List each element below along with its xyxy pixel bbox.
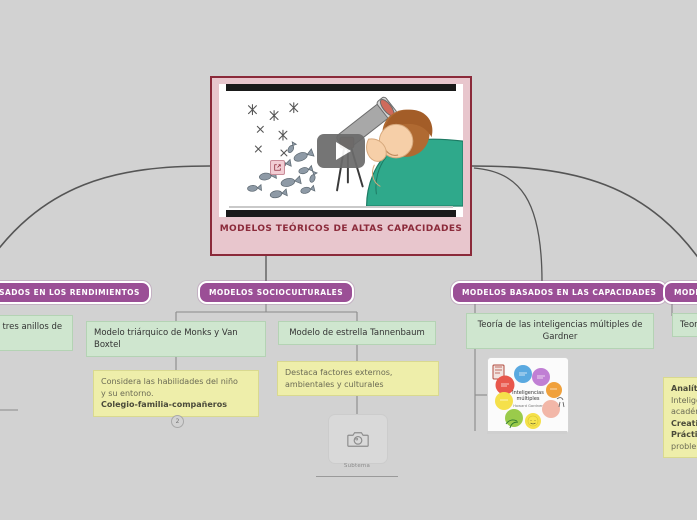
- note-sternberg-line1: Analítica:: [671, 383, 697, 395]
- image-placeholder-label: Subtema: [316, 463, 398, 469]
- topic-pill-socioculturales[interactable]: MODELOS SOCIOCULTURALES: [198, 281, 354, 304]
- thumbnail-ground-line: [229, 206, 453, 208]
- central-node[interactable]: MODELOS TEÓRICOS DE ALTAS CAPACIDADES: [210, 76, 472, 256]
- topic-pill-rendimientos[interactable]: MODELOS BASADOS EN LOS RENDIMIENTOS: [0, 281, 151, 304]
- subtopic-tannenbaum[interactable]: Modelo de estrella Tannenbaum: [278, 321, 436, 345]
- note-monks-line2: y su entorno.: [101, 388, 251, 400]
- note-sternberg-line4: Creativa:: [671, 418, 697, 430]
- note-sternberg-line2: Inteligencia: [671, 395, 697, 407]
- note-monks-line1: Considera las habilidades del niño: [101, 376, 251, 388]
- note-tannenbaum-line2: ambientales y culturales: [285, 379, 431, 391]
- note-sternberg-line5: Práctica:: [671, 429, 697, 441]
- subtopic-monks[interactable]: Modelo triárquico de Monks y Van Boxtel: [86, 321, 266, 357]
- video-thumbnail[interactable]: [219, 84, 463, 217]
- multiple-intelligences-graphic: Inteligencias múltiples Howard Gardner: [488, 358, 568, 433]
- play-icon[interactable]: [317, 134, 365, 168]
- central-node-title: MODELOS TEÓRICOS DE ALTAS CAPACIDADES: [219, 223, 463, 235]
- external-link-icon[interactable]: [270, 160, 285, 175]
- svg-text:Howard Gardner: Howard Gardner: [513, 404, 543, 408]
- mindmap-canvas[interactable]: MODELOS TEÓRICOS DE ALTAS CAPACIDADES MO…: [0, 0, 697, 520]
- camera-icon: [347, 431, 369, 448]
- note-tannenbaum[interactable]: Destaca factores externos, ambientales y…: [277, 361, 439, 396]
- collapse-badge-monks[interactable]: 2: [171, 415, 184, 428]
- note-sternberg-line6: problemas: [671, 441, 697, 453]
- topic-pill-capacidades[interactable]: MODELOS BASADOS EN LAS CAPACIDADES: [451, 281, 667, 304]
- thumbnail-top-bar: [226, 84, 456, 91]
- topic-pill-cognitivos[interactable]: MODELOS COGNITIVOS: [663, 281, 697, 304]
- svg-text:múltiples: múltiples: [516, 395, 539, 402]
- gardner-image-node[interactable]: Inteligencias múltiples Howard Gardner: [487, 357, 569, 434]
- subtopic-sternberg[interactable]: Teoría triárquica de Sternberg: [672, 313, 697, 337]
- subtopic-gardner[interactable]: Teoría de las inteligencias múltiples de…: [466, 313, 654, 349]
- subtopic-renzulli[interactable]: Modelo de los tres anillos de Renzulli: [0, 315, 73, 351]
- note-sternberg[interactable]: Analítica: Inteligencia académica Creati…: [663, 377, 697, 458]
- thumbnail-bottom-bar: [226, 210, 456, 217]
- note-monks-line3: Colegio-familia-compañeros: [101, 399, 251, 411]
- note-tannenbaum-line1: Destaca factores externos,: [285, 367, 431, 379]
- note-sternberg-line3: académica: [671, 406, 697, 418]
- gardner-image-shadow: [487, 431, 567, 434]
- image-placeholder-node[interactable]: [328, 414, 388, 464]
- note-monks[interactable]: Considera las habilidades del niño y su …: [93, 370, 259, 417]
- image-placeholder-underline: [316, 476, 398, 477]
